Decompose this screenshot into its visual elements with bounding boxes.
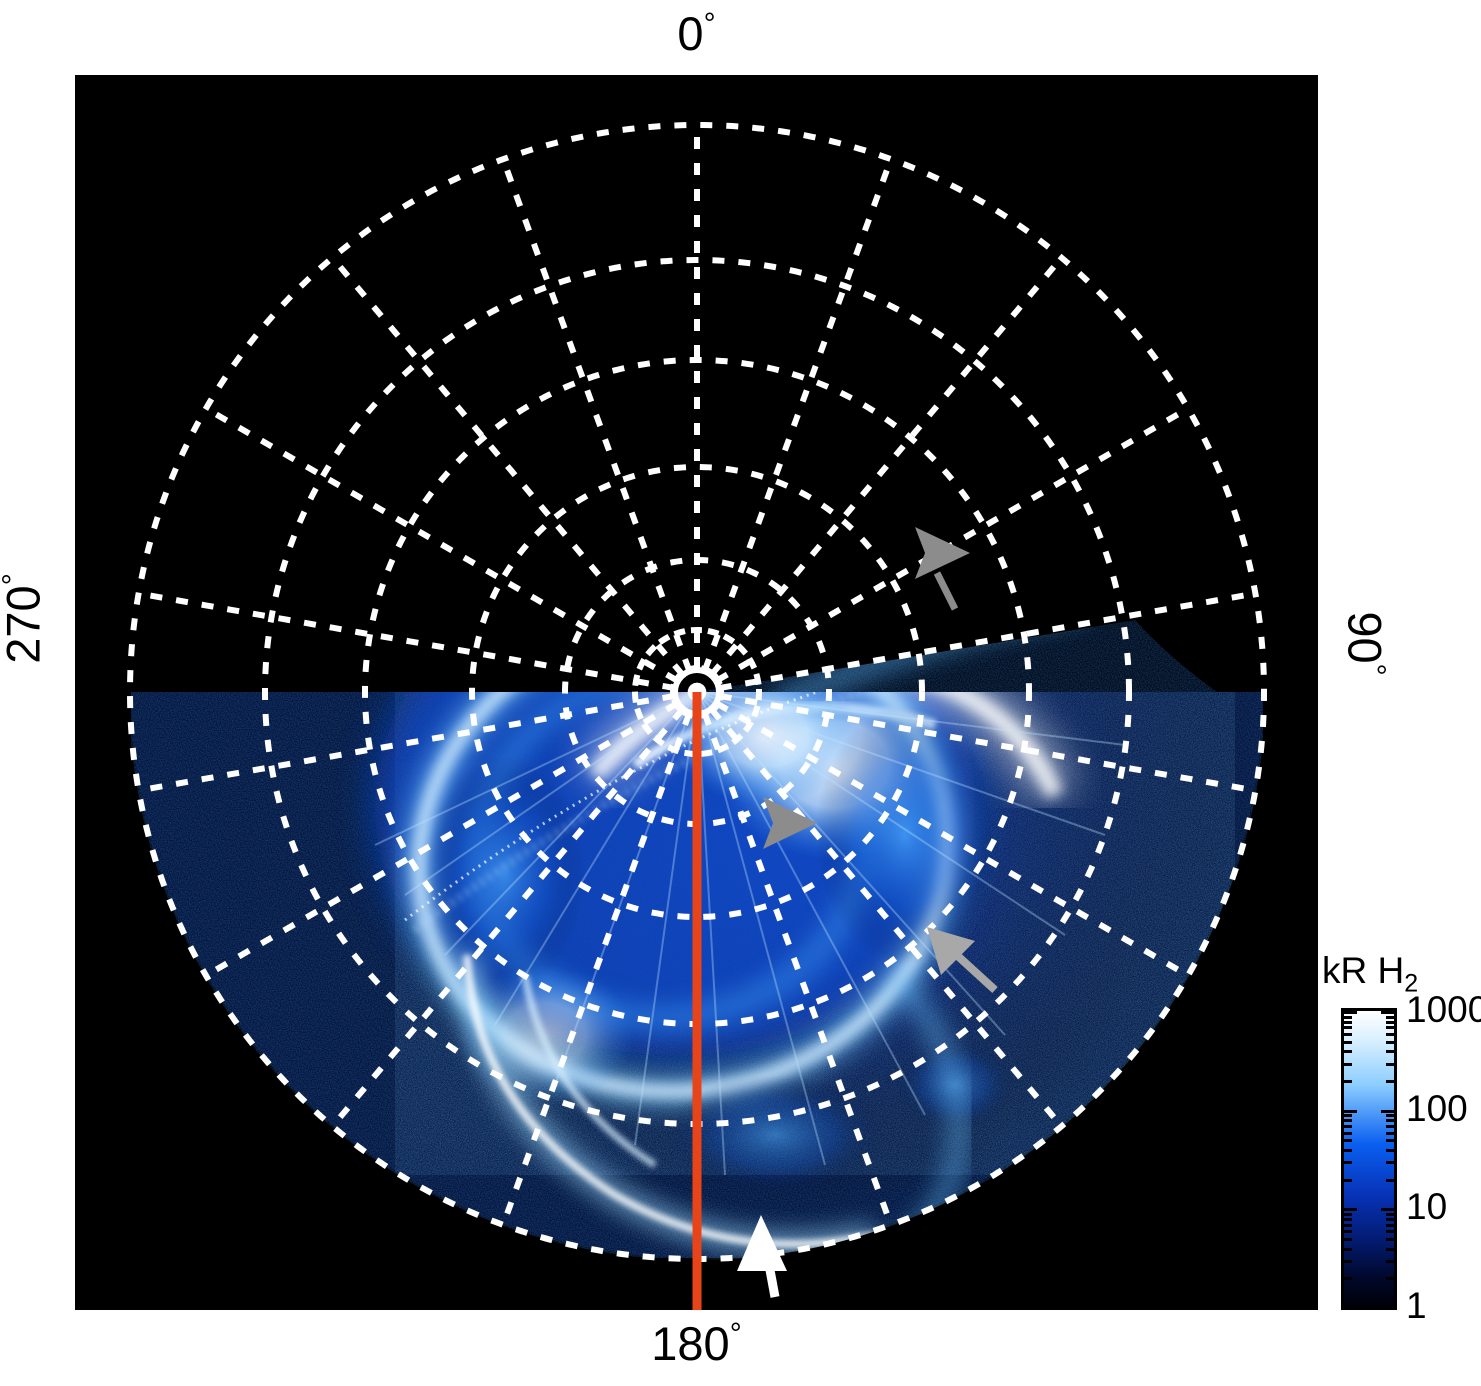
- colorbar-tick-5: [1344, 1238, 1352, 1241]
- colorbar-tick-80: [1344, 1119, 1352, 1122]
- figure-root: 0° 180° 270° 90° kR H2 1000100101: [0, 0, 1481, 1386]
- colorbar-tick-200: [1386, 1080, 1394, 1083]
- colorbar-tick-1: [1381, 1307, 1394, 1310]
- colorbar-tick-90: [1386, 1114, 1394, 1117]
- polar-plot-panel: [75, 75, 1318, 1310]
- colorbar-tick-7: [1386, 1224, 1394, 1227]
- colorbar-tick-90: [1344, 1114, 1352, 1117]
- colorbar-tick-400: [1344, 1050, 1352, 1053]
- colorbar-tick-60: [1386, 1132, 1394, 1135]
- colorbar-tick-400: [1386, 1050, 1394, 1053]
- colorbar-tick-40: [1386, 1149, 1394, 1152]
- colorbar-tick-900: [1386, 1016, 1394, 1019]
- colorbar-tick-300: [1344, 1063, 1352, 1066]
- axis-label-90deg: 90°: [1342, 569, 1389, 719]
- colorbar-tick-1: [1344, 1307, 1352, 1310]
- colorbar-gradient-box: [1341, 1008, 1397, 1310]
- colorbar-tick-800: [1344, 1021, 1352, 1024]
- colorbar-tick-20: [1344, 1179, 1352, 1182]
- colorbar-tick-60: [1344, 1132, 1352, 1135]
- colorbar-tick-5: [1386, 1238, 1394, 1241]
- colorbar-tick-200: [1344, 1080, 1352, 1083]
- polar-plot-canvas: [75, 75, 1318, 1310]
- colorbar-tick-3: [1386, 1260, 1394, 1263]
- colorbar-tick-700: [1386, 1026, 1394, 1029]
- colorbar-tick-70: [1344, 1125, 1352, 1128]
- colorbar-tick-800: [1386, 1021, 1394, 1024]
- colorbar-tick-8: [1344, 1218, 1352, 1221]
- colorbar-tick-4: [1344, 1248, 1352, 1251]
- colorbar-title: kR H2: [1322, 950, 1418, 992]
- colorbar-tick-1000: [1381, 1011, 1394, 1014]
- colorbar-tick-70: [1386, 1125, 1394, 1128]
- colorbar-tick-1000: [1344, 1011, 1357, 1014]
- axis-label-270deg: 270°: [0, 544, 47, 694]
- colorbar-tick-100: [1381, 1110, 1394, 1113]
- colorbar-tick-700: [1344, 1026, 1352, 1029]
- colorbar-tick-500: [1344, 1041, 1352, 1044]
- colorbar-tick-30: [1386, 1161, 1394, 1164]
- colorbar-tick-label-1: 1: [1406, 1287, 1427, 1324]
- colorbar-tick-500: [1386, 1041, 1394, 1044]
- colorbar: kR H2 1000100101: [1322, 950, 1481, 1330]
- colorbar-tick-20: [1386, 1179, 1394, 1182]
- axis-label-180deg: 180°: [0, 1320, 1393, 1367]
- colorbar-tick-80: [1386, 1119, 1394, 1122]
- colorbar-tick-10: [1344, 1208, 1357, 1211]
- colorbar-tick-50: [1344, 1139, 1352, 1142]
- colorbar-tick-3: [1344, 1260, 1352, 1263]
- colorbar-tick-label-1000: 1000: [1406, 991, 1481, 1028]
- colorbar-tick-2: [1344, 1277, 1352, 1280]
- colorbar-tick-10: [1381, 1208, 1394, 1211]
- colorbar-tick-label-100: 100: [1406, 1090, 1468, 1127]
- axis-label-0deg: 0°: [0, 10, 1393, 57]
- colorbar-tick-6: [1386, 1230, 1394, 1233]
- colorbar-tick-100: [1344, 1110, 1357, 1113]
- colorbar-tick-30: [1344, 1161, 1352, 1164]
- colorbar-tick-label-10: 10: [1406, 1188, 1447, 1225]
- colorbar-tick-9: [1386, 1213, 1394, 1216]
- colorbar-tick-50: [1386, 1139, 1394, 1142]
- colorbar-tick-4: [1386, 1248, 1394, 1251]
- colorbar-tick-40: [1344, 1149, 1352, 1152]
- colorbar-tick-9: [1344, 1213, 1352, 1216]
- colorbar-tick-6: [1344, 1230, 1352, 1233]
- colorbar-tick-8: [1386, 1218, 1394, 1221]
- colorbar-tick-2: [1386, 1277, 1394, 1280]
- colorbar-tick-300: [1386, 1063, 1394, 1066]
- colorbar-tick-7: [1344, 1224, 1352, 1227]
- colorbar-tick-600: [1344, 1033, 1352, 1036]
- colorbar-tick-900: [1344, 1016, 1352, 1019]
- colorbar-tick-600: [1386, 1033, 1394, 1036]
- colorbar-tick-1: [1386, 1307, 1394, 1310]
- colorbar-tick-1: [1344, 1307, 1357, 1310]
